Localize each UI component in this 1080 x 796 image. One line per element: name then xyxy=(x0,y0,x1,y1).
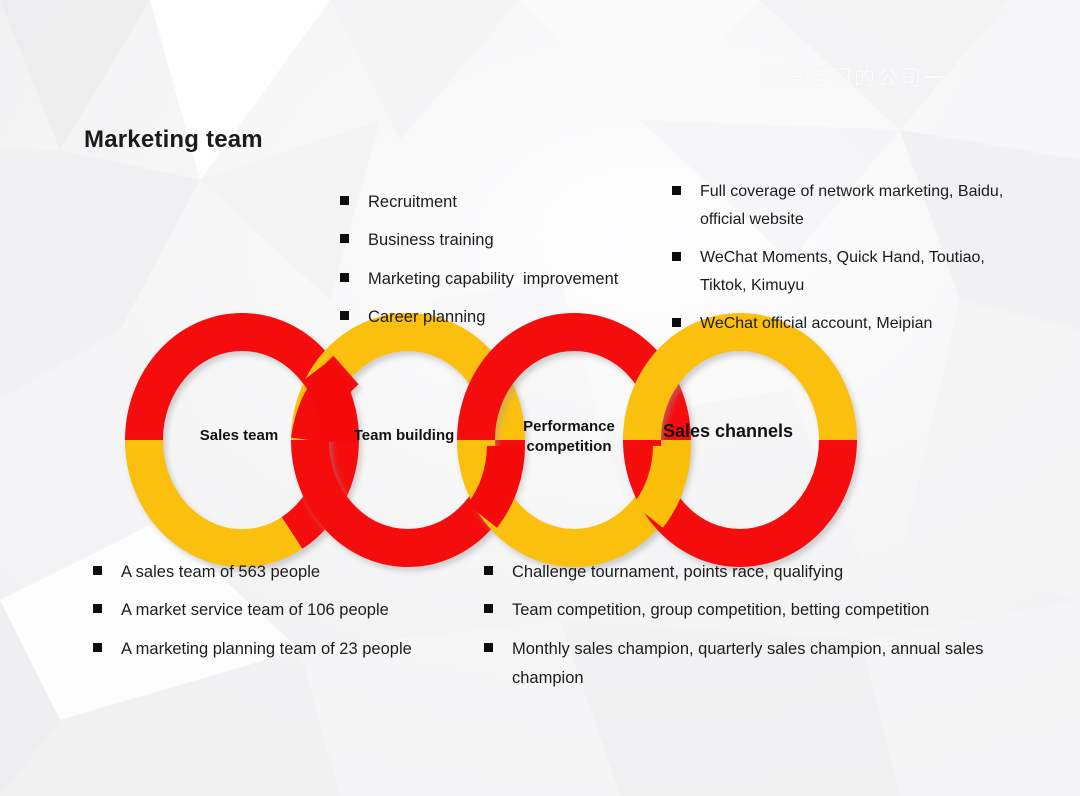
list-item: Recruitment xyxy=(340,188,670,217)
list-item-label: Challenge tournament, points race, quali… xyxy=(512,558,843,587)
bullet-list-bottom-left: A sales team of 563 people A market serv… xyxy=(93,558,493,673)
list-item-label: A marketing planning team of 23 people xyxy=(121,635,412,664)
list-item: A market service team of 106 people xyxy=(93,596,493,625)
list-item-label: Business training xyxy=(368,226,494,255)
watermark-text: 终身学习的公司一 xyxy=(762,62,1022,92)
square-bullet-icon xyxy=(672,318,681,327)
list-item: WeChat Moments, Quick Hand, Toutiao, Tik… xyxy=(672,244,1032,301)
square-bullet-icon xyxy=(93,643,102,652)
square-bullet-icon xyxy=(340,234,349,243)
ring-chain-diagram xyxy=(132,330,848,550)
list-item-label: Recruitment xyxy=(368,188,457,217)
list-item-label: Career planning xyxy=(368,303,485,332)
list-item: Marketing capability improvement xyxy=(340,265,670,294)
list-item-label: Marketing capability improvement xyxy=(368,265,618,294)
list-item-label: WeChat official account, Meipian xyxy=(700,310,932,338)
list-item: Career planning xyxy=(340,303,670,332)
list-item-label: A market service team of 106 people xyxy=(121,596,389,625)
list-item-label: A sales team of 563 people xyxy=(121,558,320,587)
ring-chain-svg xyxy=(132,330,848,550)
square-bullet-icon xyxy=(484,566,493,575)
bullet-list-top-left: Recruitment Business training Marketing … xyxy=(340,188,670,341)
bullet-list-top-right: Full coverage of network marketing, Baid… xyxy=(672,178,1032,347)
square-bullet-icon xyxy=(93,604,102,613)
square-bullet-icon xyxy=(672,252,681,261)
list-item: Team competition, group competition, bet… xyxy=(484,596,1044,625)
square-bullet-icon xyxy=(484,604,493,613)
list-item-label: WeChat Moments, Quick Hand, Toutiao, Tik… xyxy=(700,244,1032,301)
list-item: Full coverage of network marketing, Baid… xyxy=(672,178,1032,235)
list-item-label: Full coverage of network marketing, Baid… xyxy=(700,178,1032,235)
list-item-label: Team competition, group competition, bet… xyxy=(512,596,929,625)
list-item: WeChat official account, Meipian xyxy=(672,310,1032,338)
square-bullet-icon xyxy=(672,186,681,195)
square-bullet-icon xyxy=(340,196,349,205)
square-bullet-icon xyxy=(93,566,102,575)
bullet-list-bottom-right: Challenge tournament, points race, quali… xyxy=(484,558,1044,702)
square-bullet-icon xyxy=(340,273,349,282)
list-item-label: Monthly sales champion, quarterly sales … xyxy=(512,635,1044,694)
list-item: Business training xyxy=(340,226,670,255)
list-item: Monthly sales champion, quarterly sales … xyxy=(484,635,1044,694)
square-bullet-icon xyxy=(340,311,349,320)
square-bullet-icon xyxy=(484,643,493,652)
slide-canvas: 终身学习的公司一 Marketing team Recruitment Busi… xyxy=(0,0,1080,796)
page-title: Marketing team xyxy=(84,126,263,154)
list-item: Challenge tournament, points race, quali… xyxy=(484,558,1044,587)
list-item: A sales team of 563 people xyxy=(93,558,493,587)
list-item: A marketing planning team of 23 people xyxy=(93,635,493,664)
